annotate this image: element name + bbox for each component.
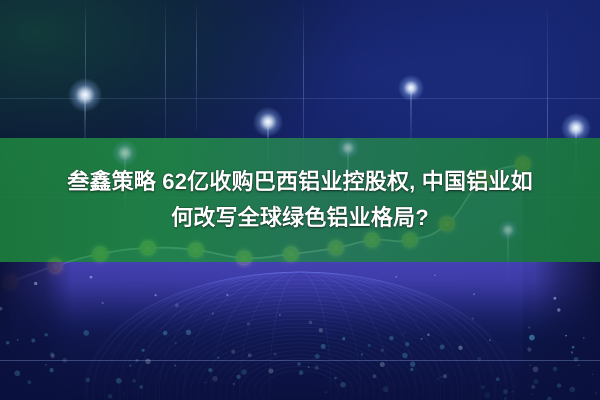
bottom-fade-overlay — [0, 280, 600, 400]
spark-particle — [434, 275, 435, 276]
spark-particle — [395, 276, 397, 278]
bottom-horizontal-rule — [0, 360, 600, 361]
article-cover-image: 叁鑫策略 62亿收购巴西铝业控股权, 中国铝业如 何改写全球绿色铝业格局? — [0, 0, 600, 400]
spark-particle — [90, 276, 93, 279]
